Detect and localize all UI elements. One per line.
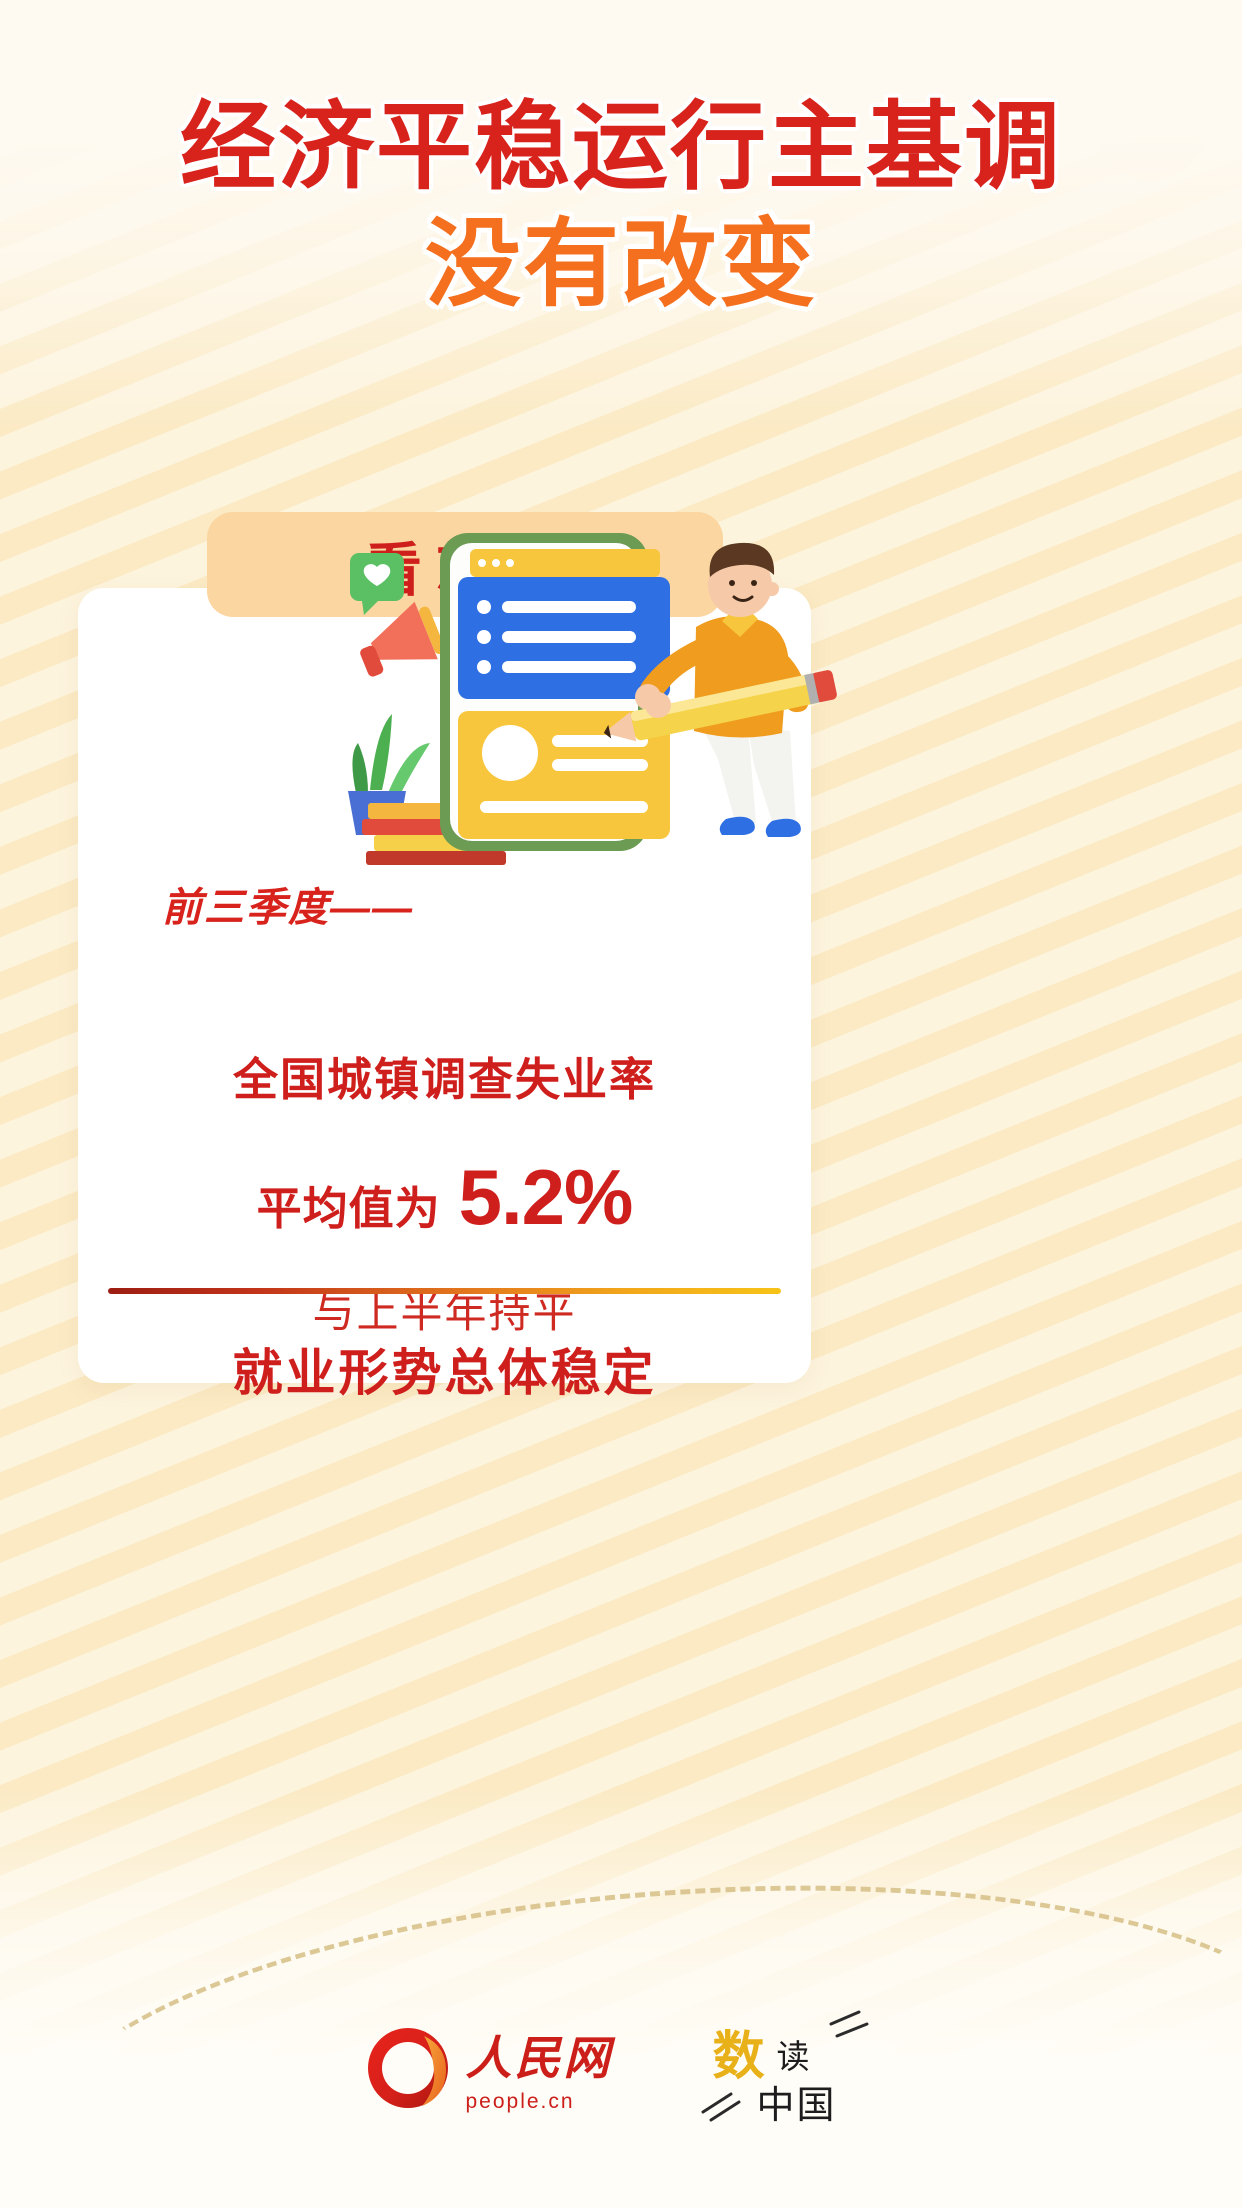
people-cn-url: people.cn — [466, 2090, 575, 2114]
stat-title: 全国城镇调查失业率 — [78, 1043, 811, 1108]
illustration-svg — [330, 515, 850, 875]
shudu-zhongguo-logo[interactable]: 数 读 中国 — [691, 2008, 881, 2128]
infographic-poster: 经济平稳运行主基调 没有改变 看就业 前三季度—— 全国城镇调查失业率 平均值为… — [0, 0, 1242, 2208]
job-listing-card-blue — [458, 577, 670, 699]
people-daily-mark-icon — [362, 2022, 454, 2114]
people-cn-name: 人民网 — [466, 2022, 613, 2088]
title-line-2: 没有改变 — [0, 210, 1242, 320]
shudu-char-zhongguo: 中国 — [757, 2074, 837, 2129]
period-label: 前三季度—— — [162, 875, 414, 933]
stat-value-number: 5.2% — [459, 1152, 633, 1243]
stat-block: 全国城镇调查失业率 平均值为 5.2% 与上半年持平 — [78, 1043, 811, 1340]
speech-bubble-heart-icon — [350, 553, 404, 615]
poster-title: 经济平稳运行主基调 没有改变 — [0, 96, 1242, 320]
stat-value-label: 平均值为 — [257, 1172, 441, 1237]
gradient-divider — [108, 1288, 781, 1294]
conclusion-text: 就业形势总体稳定 — [78, 1333, 811, 1405]
stat-value-row: 平均值为 5.2% — [78, 1152, 811, 1243]
shudu-char-du: 读 — [777, 2030, 810, 2078]
title-line-1: 经济平稳运行主基调 — [0, 96, 1242, 200]
people-cn-logo[interactable]: 人民网 people.cn — [362, 2022, 613, 2114]
hero-illustration — [330, 515, 850, 875]
footer-branding: 人民网 people.cn 数 读 中国 — [0, 1998, 1242, 2138]
